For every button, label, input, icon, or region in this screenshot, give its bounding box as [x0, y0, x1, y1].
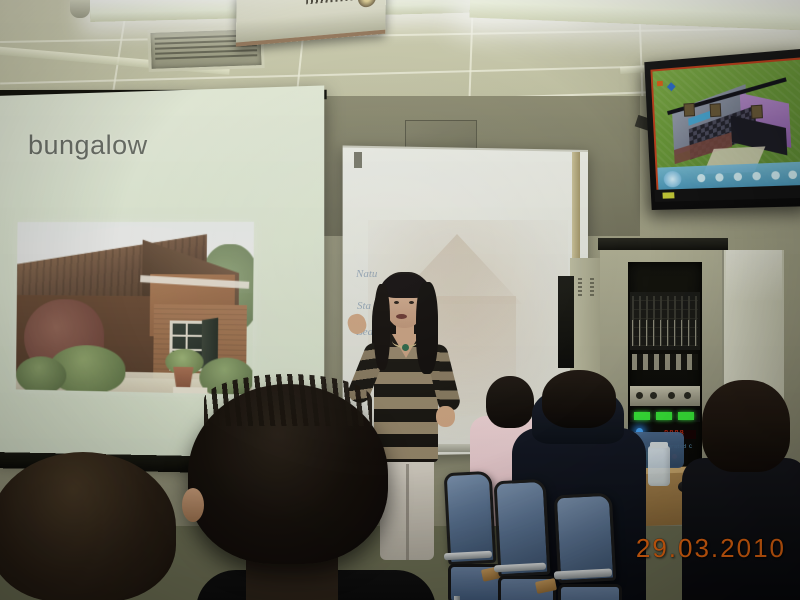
teacher-pendant	[402, 344, 409, 351]
fluorescent-light-panel	[469, 0, 800, 31]
teacher-hair-left	[374, 284, 390, 370]
teacher-trouser-seam	[406, 464, 409, 560]
student-hoodie-hair	[542, 370, 616, 428]
photo-green-shrub	[16, 356, 67, 395]
game-ui-icon[interactable]	[697, 174, 705, 182]
green-status-led	[656, 412, 672, 420]
teacher-mouth	[396, 314, 407, 319]
student-right-torso	[682, 458, 800, 600]
camera-date-stamp: 29.03.2010	[636, 533, 786, 564]
game-ui-icon[interactable]	[752, 172, 761, 181]
game-ui-icon[interactable]	[734, 172, 743, 181]
whiteboard-clip	[354, 152, 362, 168]
game-alert-icon[interactable]	[657, 81, 663, 86]
projector-lens-icon	[358, 0, 376, 8]
teacher-lowered-hand	[436, 406, 455, 427]
student-foreground-spiky-hair	[188, 384, 404, 600]
student-left-hair	[0, 452, 176, 600]
monitor-screen	[650, 57, 800, 192]
ceiling-projector	[236, 0, 386, 47]
student-right-hair	[702, 380, 790, 472]
game-window	[751, 105, 763, 119]
teacher-eye	[409, 301, 414, 304]
game-window	[683, 103, 695, 117]
slide-bungalow-photo	[16, 222, 254, 395]
game-ui-icon[interactable]	[788, 170, 797, 179]
student-far-right	[690, 380, 800, 600]
wall-mounted-monitor	[644, 49, 800, 210]
student-front-hair-spikes	[204, 374, 372, 426]
chair-leg	[454, 596, 460, 600]
wall-speaker	[558, 276, 574, 368]
classroom-photograph: bungalow Natu Sta Bea	[0, 0, 800, 600]
wall-light-reflection	[726, 250, 782, 302]
ceiling-speaker	[70, 0, 90, 18]
monitor-power-led	[662, 192, 674, 198]
student-foreground-left	[0, 452, 180, 600]
game-ui-icon[interactable]	[771, 171, 780, 180]
lecture-chair[interactable]	[556, 494, 640, 600]
game-window	[710, 103, 722, 117]
student-front-ear	[182, 488, 204, 522]
bottle-cap[interactable]	[650, 442, 668, 448]
rack-top-shelf	[598, 238, 728, 250]
chair-seat[interactable]	[558, 584, 622, 600]
projector-cables	[306, 0, 358, 4]
water-bottle[interactable]	[648, 446, 670, 486]
teacher-eye	[394, 301, 399, 304]
mixer-faders[interactable]	[632, 320, 698, 346]
game-ui-icon[interactable]	[715, 173, 724, 182]
slide-title: bungalow	[28, 130, 148, 161]
rack-button-row[interactable]	[632, 354, 698, 370]
teacher-hair-right	[416, 282, 438, 374]
